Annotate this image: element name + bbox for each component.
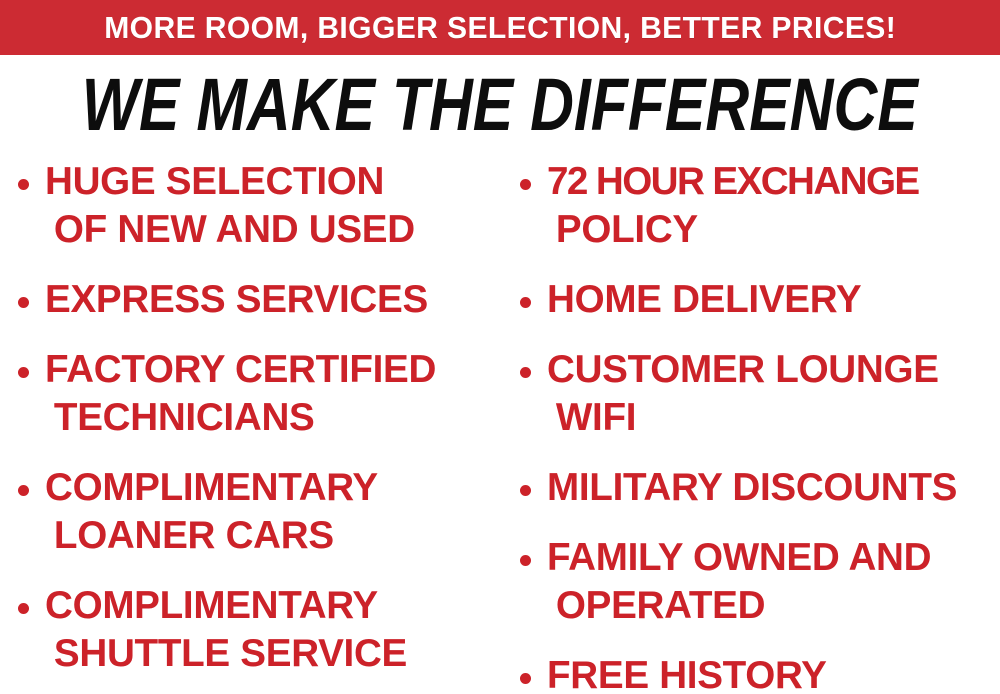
feature-item-line: OPERATED — [547, 582, 995, 630]
page-title: WE MAKE THE DIFFERENCE — [82, 68, 918, 142]
feature-item-line: CUSTOMER LOUNGE — [547, 346, 995, 394]
feature-list-item: HUGE SELECTIONOF NEW AND USED — [18, 158, 500, 254]
feature-item-line: 72 HOUR EXCHANGE — [547, 158, 995, 206]
feature-item-line: SHUTTLE SERVICE — [45, 630, 495, 678]
bullet-dot-icon — [520, 367, 531, 378]
bullet-dot-icon — [18, 603, 29, 614]
feature-item-text: HUGE SELECTIONOF NEW AND USED — [45, 158, 500, 254]
feature-item-line: FAMILY OWNED AND — [547, 534, 995, 582]
feature-item-text: FACTORY CERTIFIEDTECHNICIANS — [45, 346, 500, 442]
headline-container: WE MAKE THE DIFFERENCE — [0, 66, 1000, 144]
feature-item-line: OF NEW AND USED — [45, 206, 495, 254]
feature-list-item: MILITARY DISCOUNTS — [520, 464, 1000, 512]
feature-item-text: 72 HOUR EXCHANGEPOLICY — [547, 158, 1000, 254]
feature-item-line: FREE HISTORY — [547, 652, 995, 694]
feature-item-line: POLICY — [547, 206, 995, 254]
bullet-dot-icon — [520, 179, 531, 190]
feature-item-line: LOANER CARS — [45, 512, 495, 560]
feature-item-text: FREE HISTORYREPORTS — [547, 652, 1000, 694]
feature-list-item: EXPRESS SERVICES — [18, 276, 500, 324]
top-promo-banner: MORE ROOM, BIGGER SELECTION, BETTER PRIC… — [0, 0, 1000, 55]
feature-item-text: FAMILY OWNED ANDOPERATED — [547, 534, 1000, 630]
feature-item-line: COMPLIMENTARY — [45, 582, 495, 630]
bullet-dot-icon — [520, 485, 531, 496]
features-column-left: HUGE SELECTIONOF NEW AND USEDEXPRESS SER… — [18, 158, 500, 694]
feature-list-item: COMPLIMENTARYSHUTTLE SERVICE — [18, 582, 500, 678]
feature-item-text: COMPLIMENTARYSHUTTLE SERVICE — [45, 582, 500, 678]
feature-item-text: CUSTOMER LOUNGEWIFI — [547, 346, 1000, 442]
feature-item-line: COMPLIMENTARY — [45, 464, 495, 512]
feature-item-line: EXPRESS SERVICES — [45, 276, 495, 324]
feature-item-line: WIFI — [547, 394, 995, 442]
bullet-dot-icon — [18, 179, 29, 190]
feature-item-line: FACTORY CERTIFIED — [45, 346, 495, 394]
feature-item-line: HUGE SELECTION — [45, 158, 495, 206]
feature-list-item: FACTORY CERTIFIEDTECHNICIANS — [18, 346, 500, 442]
feature-list-item: HOME DELIVERY — [520, 276, 1000, 324]
bullet-dot-icon — [18, 367, 29, 378]
bullet-dot-icon — [18, 297, 29, 308]
bullet-dot-icon — [18, 485, 29, 496]
feature-list-item: 72 HOUR EXCHANGEPOLICY — [520, 158, 1000, 254]
feature-item-text: EXPRESS SERVICES — [45, 276, 500, 324]
feature-item-text: HOME DELIVERY — [547, 276, 1000, 324]
bullet-dot-icon — [520, 297, 531, 308]
promotional-banner-page: MORE ROOM, BIGGER SELECTION, BETTER PRIC… — [0, 0, 1000, 694]
bullet-dot-icon — [520, 555, 531, 566]
feature-list-item: FAMILY OWNED ANDOPERATED — [520, 534, 1000, 630]
feature-list-item: CUSTOMER LOUNGEWIFI — [520, 346, 1000, 442]
feature-item-text: COMPLIMENTARYLOANER CARS — [45, 464, 500, 560]
features-columns: HUGE SELECTIONOF NEW AND USEDEXPRESS SER… — [0, 158, 1000, 694]
features-column-right: 72 HOUR EXCHANGEPOLICYHOME DELIVERYCUSTO… — [520, 158, 1000, 694]
bullet-dot-icon — [520, 673, 531, 684]
feature-list-item: COMPLIMENTARYLOANER CARS — [18, 464, 500, 560]
top-promo-banner-text: MORE ROOM, BIGGER SELECTION, BETTER PRIC… — [104, 12, 896, 43]
feature-item-line: MILITARY DISCOUNTS — [547, 464, 995, 512]
feature-item-text: MILITARY DISCOUNTS — [547, 464, 1000, 512]
feature-item-line: HOME DELIVERY — [547, 276, 995, 324]
feature-item-line: TECHNICIANS — [45, 394, 495, 442]
feature-list-item: FREE HISTORYREPORTS — [520, 652, 1000, 694]
